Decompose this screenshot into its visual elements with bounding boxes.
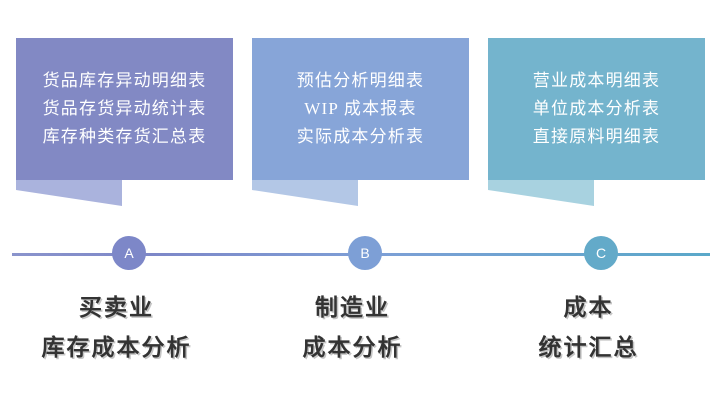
card-line: 货品库存异动明细表: [43, 67, 207, 95]
card-tail-c: [488, 180, 594, 206]
card-line: 货品存货异动统计表: [43, 95, 207, 123]
card-line: 预估分析明细表: [297, 67, 424, 95]
card-body-b: 预估分析明细表 WIP 成本报表 实际成本分析表: [252, 38, 469, 180]
caption-line: 库存成本分析: [8, 328, 225, 368]
caption-line: 统计汇总: [480, 328, 697, 368]
card-block-a: 货品库存异动明细表 货品存货异动统计表 库存种类存货汇总表: [16, 38, 233, 208]
timeline: A B C: [12, 253, 710, 257]
caption-c: 成本 统计汇总: [480, 288, 697, 368]
timeline-marker-label: A: [124, 245, 133, 261]
caption-line: 制造业: [244, 288, 461, 328]
card-block-c: 营业成本明细表 单位成本分析表 直接原料明细表: [488, 38, 705, 208]
captions-row: 买卖业 库存成本分析 制造业 成本分析 成本 统计汇总: [0, 288, 720, 378]
timeline-marker-b[interactable]: B: [348, 236, 382, 270]
card-body-c: 营业成本明细表 单位成本分析表 直接原料明细表: [488, 38, 705, 180]
timeline-marker-c[interactable]: C: [584, 236, 618, 270]
caption-a: 买卖业 库存成本分析: [8, 288, 225, 368]
card-tail-b: [252, 180, 358, 206]
caption-line: 买卖业: [8, 288, 225, 328]
caption-b: 制造业 成本分析: [244, 288, 461, 368]
card-body-a: 货品库存异动明细表 货品存货异动统计表 库存种类存货汇总表: [16, 38, 233, 180]
card-line: 库存种类存货汇总表: [43, 123, 207, 151]
card-line: 单位成本分析表: [533, 95, 660, 123]
card-line: 实际成本分析表: [297, 123, 424, 151]
card-line: 直接原料明细表: [533, 123, 660, 151]
cards-row: 货品库存异动明细表 货品存货异动统计表 库存种类存货汇总表 预估分析明细表 WI…: [0, 38, 720, 208]
caption-line: 成本分析: [244, 328, 461, 368]
timeline-marker-label: C: [596, 245, 606, 261]
timeline-marker-a[interactable]: A: [112, 236, 146, 270]
card-block-b: 预估分析明细表 WIP 成本报表 实际成本分析表: [252, 38, 469, 208]
card-tail-a: [16, 180, 122, 206]
infographic-root: 货品库存异动明细表 货品存货异动统计表 库存种类存货汇总表 预估分析明细表 WI…: [0, 0, 720, 400]
timeline-marker-label: B: [360, 245, 369, 261]
card-line: 营业成本明细表: [533, 67, 660, 95]
card-line: WIP 成本报表: [304, 95, 416, 123]
caption-line: 成本: [480, 288, 697, 328]
